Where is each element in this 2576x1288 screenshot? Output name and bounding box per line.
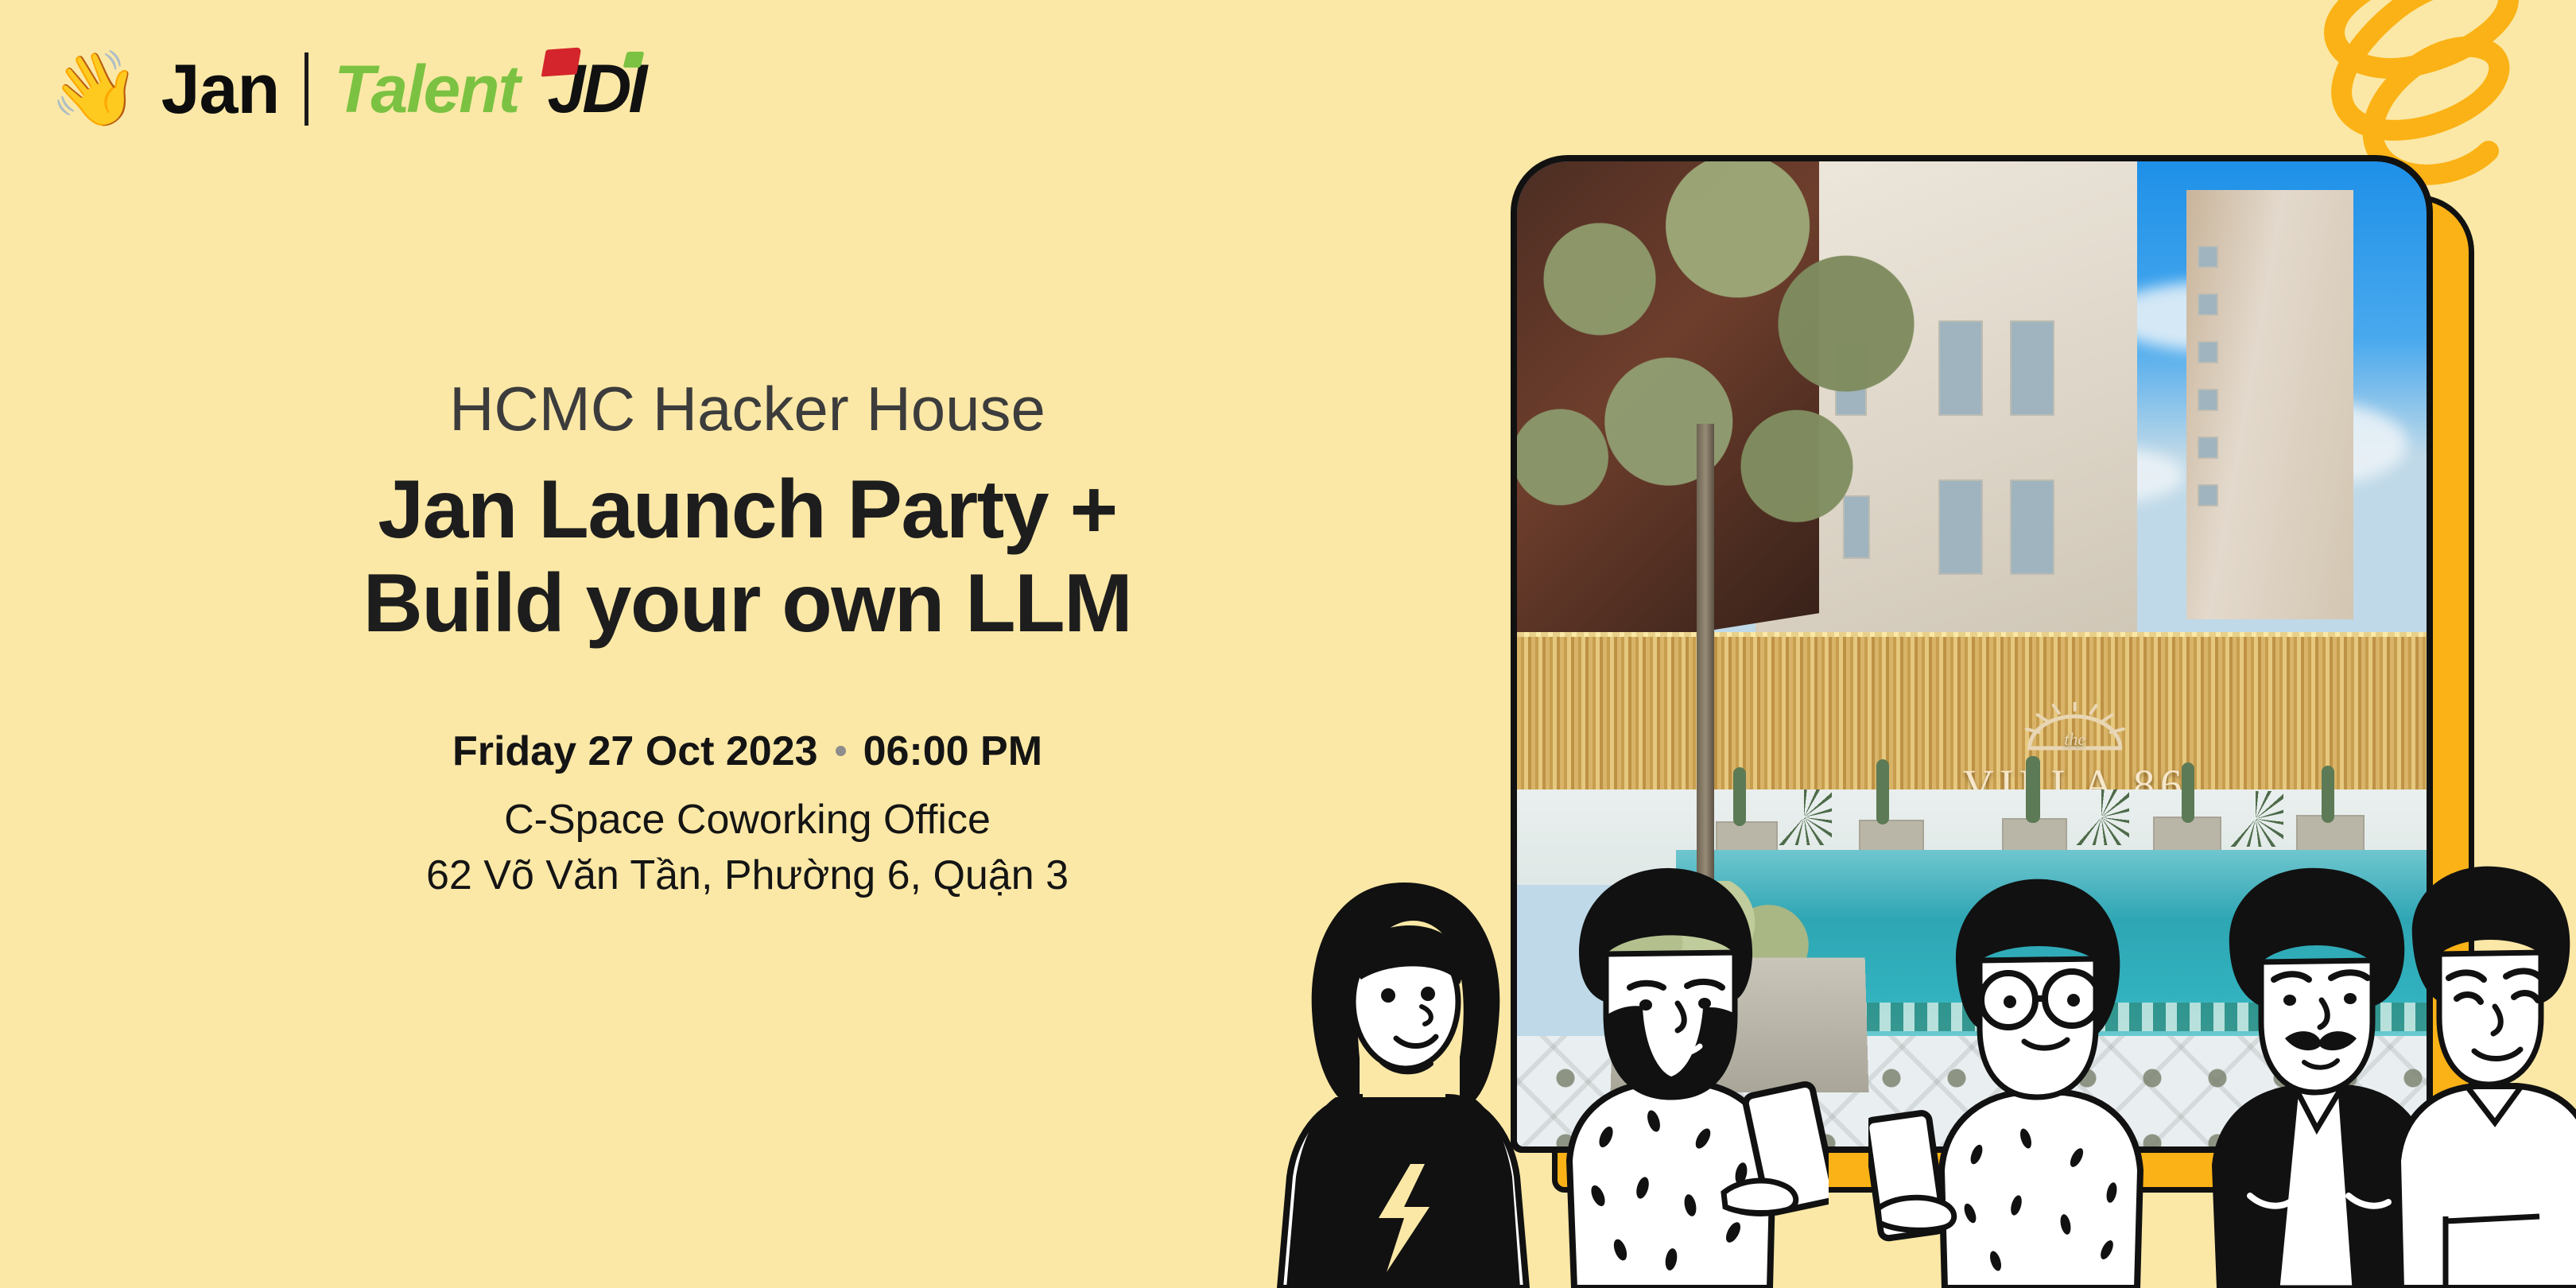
brand-logo-bar: 👋 Jan Talent JDI bbox=[49, 41, 644, 137]
sunburst-icon: the bbox=[2015, 702, 2135, 755]
jan-wordmark: Jan bbox=[161, 48, 280, 130]
spiky-plant bbox=[2074, 789, 2129, 845]
window bbox=[2010, 479, 2054, 575]
jdi-red-accent-icon bbox=[541, 47, 582, 76]
waving-hand-icon: 👋 bbox=[49, 52, 141, 126]
headline-line-1: Jan Launch Party + bbox=[0, 463, 1495, 557]
window bbox=[2010, 320, 2054, 416]
event-date: Friday 27 Oct 2023 bbox=[452, 727, 818, 775]
window bbox=[2198, 436, 2218, 459]
event-headline: Jan Launch Party + Build your own LLM bbox=[0, 463, 1495, 651]
talent-wordmark: Talent bbox=[334, 51, 518, 128]
headline-line-2: Build your own LLM bbox=[0, 557, 1495, 651]
window bbox=[2198, 484, 2218, 506]
event-time: 06:00 PM bbox=[863, 727, 1042, 775]
tree-foliage bbox=[1517, 161, 1994, 591]
spiky-plant bbox=[1776, 789, 1832, 845]
cactus bbox=[2182, 762, 2194, 823]
cactus bbox=[2322, 766, 2334, 823]
sign-script-text: the bbox=[2064, 729, 2085, 749]
character-glasses-person-phone bbox=[1868, 859, 2186, 1288]
window bbox=[2198, 246, 2218, 268]
event-details-block: HCMC Hacker House Jan Launch Party + Bui… bbox=[0, 374, 1495, 899]
window bbox=[2198, 389, 2218, 411]
event-eyebrow: HCMC Hacker House bbox=[0, 374, 1495, 445]
cactus bbox=[1876, 759, 1889, 824]
window bbox=[2198, 293, 2218, 316]
people-illustration-group bbox=[1240, 859, 2576, 1288]
logo-divider bbox=[305, 52, 308, 126]
venue-name: C-Space Coworking Office bbox=[0, 796, 1495, 844]
tower-building bbox=[2186, 190, 2353, 619]
event-datetime: Friday 27 Oct 2023 06:00 PM bbox=[0, 727, 1495, 775]
cactus bbox=[2026, 756, 2040, 823]
dot-separator-icon bbox=[836, 746, 846, 756]
character-bearded-man-phone bbox=[1487, 859, 1829, 1288]
character-hoodie-person bbox=[2369, 859, 2576, 1288]
cactus bbox=[1733, 767, 1746, 826]
spiky-plant bbox=[2228, 791, 2283, 847]
window bbox=[2198, 341, 2218, 363]
jdi-logo: JDI bbox=[547, 50, 644, 129]
